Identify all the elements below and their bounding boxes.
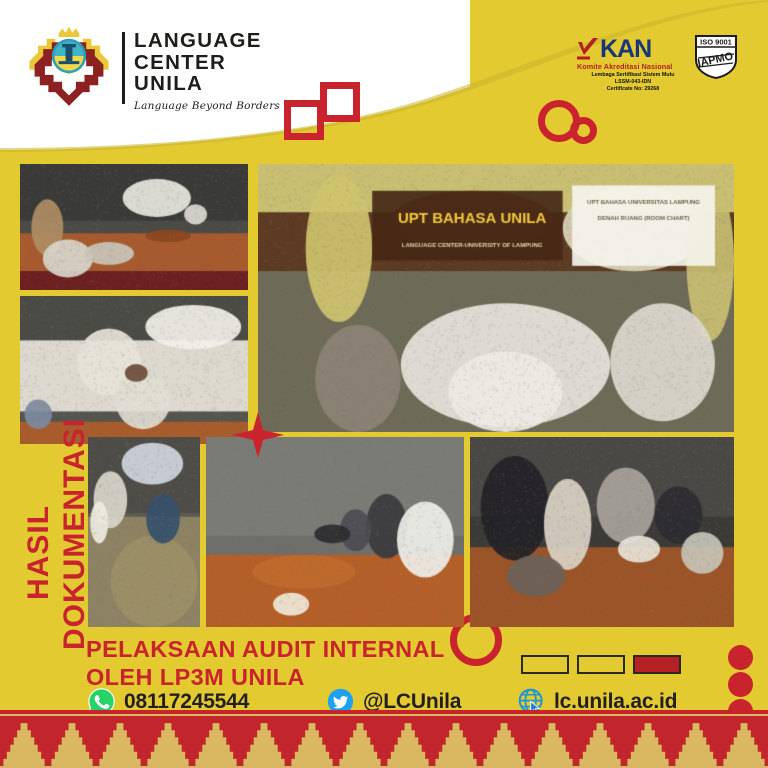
side-label-dokumentasi: DOKUMENTASI <box>58 418 92 650</box>
deco-rect-outline-2 <box>577 655 625 674</box>
tapis-top-line <box>0 710 768 714</box>
iso-9001-iapmo-shield-icon: ISO 9001 IAPMO <box>694 34 738 80</box>
brand-text-block: LANGUAGE CENTER UNILA Language Beyond Bo… <box>134 30 334 112</box>
photo-man-whiteboard-presentation <box>20 296 248 444</box>
photo-woman-workstation <box>88 437 200 627</box>
brand-divider <box>122 32 125 104</box>
kan-subtitle: Komite Akreditasi Nasional <box>577 63 689 71</box>
poster-canvas: LANGUAGE CENTER UNILA Language Beyond Bo… <box>0 0 768 768</box>
headline-line-1: PELAKSAAN AUDIT INTERNAL <box>86 636 445 663</box>
deco-dot-1 <box>728 645 753 670</box>
headline-line-2: OLEH LP3M UNILA <box>86 664 305 691</box>
red-four-point-star-icon <box>232 412 284 458</box>
deco-rect-filled <box>633 655 681 674</box>
certification-block: KAN Komite Akreditasi Nasional Lembaga S… <box>577 36 757 93</box>
photo-group-upt-bahasa-unila <box>258 164 734 432</box>
kan-detail-1: Lembaga Sertifikasi Sistem Mutu <box>577 72 689 78</box>
kan-detail-2: LSSM-043-IDN <box>577 79 689 85</box>
side-label-hasil: HASIL <box>22 505 56 600</box>
kan-checkmark-icon <box>577 37 599 61</box>
photo-participants-laptops <box>470 437 734 627</box>
deco-circle-small <box>570 117 597 144</box>
brand-line-3: UNILA <box>134 73 334 95</box>
unila-tapis-crest-logo <box>26 26 112 110</box>
brand-tagline: Language Beyond Borders <box>134 100 334 112</box>
brand-line-2: CENTER <box>134 52 334 74</box>
svg-text:ISO 9001: ISO 9001 <box>700 38 732 47</box>
brand-line-1: LANGUAGE <box>134 30 334 52</box>
deco-dot-2 <box>728 672 753 697</box>
photo-meeting-room-projector <box>20 164 248 290</box>
deco-rect-outline-1 <box>521 655 569 674</box>
photo-auditors-at-table <box>206 437 464 627</box>
tapis-lampung-stepped-triangle-border <box>0 710 768 768</box>
kan-wordmark: KAN <box>600 37 651 61</box>
kan-detail-3: Certificate No: 29268 <box>577 86 689 92</box>
